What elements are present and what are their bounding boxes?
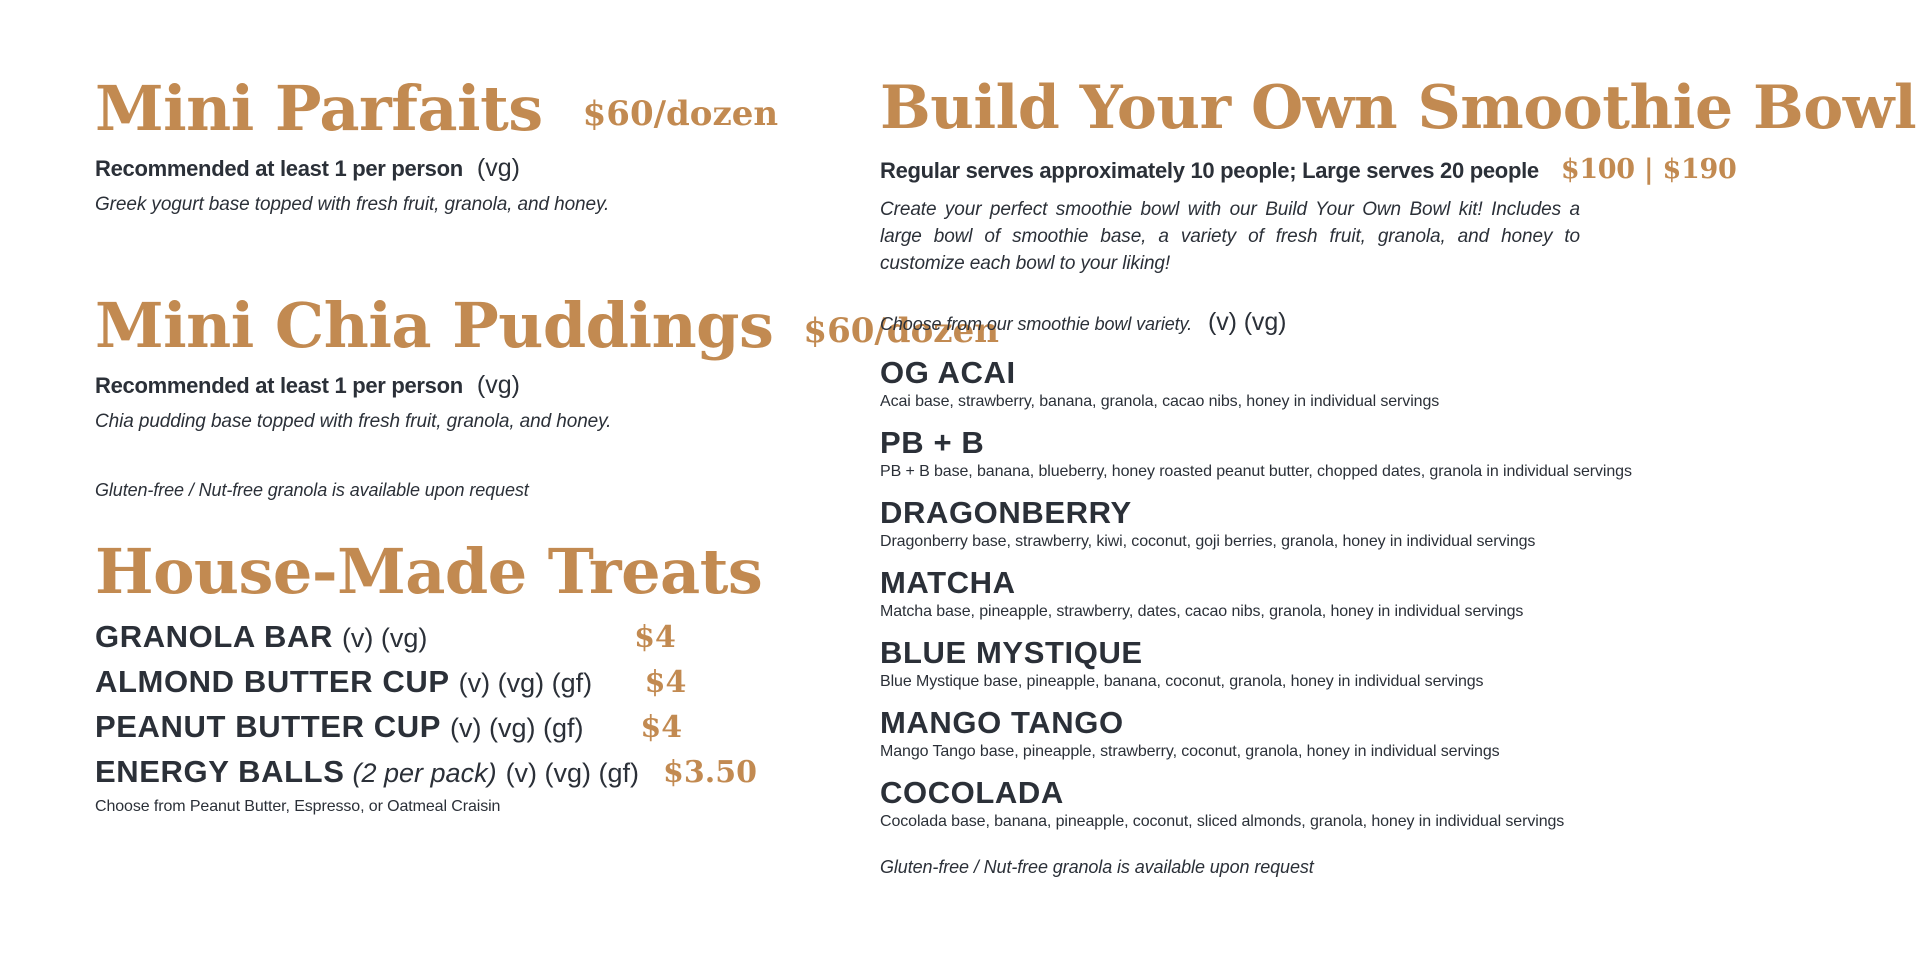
treat-diet-tags: (v) (vg) (gf)	[459, 668, 592, 699]
treat-diet-tags: (v) (vg)	[342, 623, 427, 654]
treat-name: ENERGY BALLS	[95, 754, 345, 790]
bowl-item: BLUE MYSTIQUE Blue Mystique base, pineap…	[880, 635, 1880, 691]
left-column: Mini Parfaits $60/dozen Recommended at l…	[0, 0, 880, 960]
bowl-name: MANGO TANGO	[880, 705, 1880, 741]
treat-price: $4	[595, 620, 715, 655]
spacer	[95, 436, 880, 480]
bowl-description: Blue Mystique base, pineapple, banana, c…	[880, 673, 1880, 691]
bowl-name: OG ACAI	[880, 355, 1880, 391]
bowl-item: PB + B PB + B base, banana, blueberry, h…	[880, 425, 1880, 481]
section-mini-chia-puddings: Mini Chia Puddings $60/dozen Recommended…	[95, 295, 880, 436]
bowl-description: PB + B base, banana, blueberry, honey ro…	[880, 463, 1880, 481]
choose-variety-diet-tags: (v) (vg)	[1208, 308, 1286, 337]
left-granola-note: Gluten-free / Nut-free granola is availa…	[95, 480, 880, 501]
choose-variety-row: Choose from our smoothie bowl variety. (…	[880, 308, 1880, 337]
section-house-made-treats: House-Made Treats GRANOLA BAR (v) (vg) $…	[95, 541, 880, 816]
mini-parfaits-diet-tags: (vg)	[477, 154, 520, 183]
spacer	[95, 501, 880, 527]
treat-diet-tags: (v) (vg) (gf)	[506, 758, 639, 789]
treats-list: GRANOLA BAR (v) (vg) $4 ALMOND BUTTER CU…	[95, 619, 715, 790]
mini-parfaits-title: Mini Parfaits	[95, 78, 543, 140]
mini-chia-subtitle-row: Recommended at least 1 per person (vg)	[95, 371, 880, 400]
treat-diet-tags: (v) (vg) (gf)	[450, 713, 583, 744]
treat-row: ALMOND BUTTER CUP (v) (vg) (gf) $4	[95, 664, 715, 700]
smoothie-bowl-title: Build Your Own Smoothie Bowl	[880, 78, 1880, 138]
smoothie-bowl-list: OG ACAI Acai base, strawberry, banana, g…	[880, 355, 1880, 831]
smoothie-serving-note: Regular serves approximately 10 people; …	[880, 158, 1539, 184]
treat-row: ENERGY BALLS (2 per pack) (v) (vg) (gf) …	[95, 754, 715, 790]
smoothie-description: Create your perfect smoothie bowl with o…	[880, 197, 1580, 278]
bowl-item: OG ACAI Acai base, strawberry, banana, g…	[880, 355, 1880, 411]
treat-row: PEANUT BUTTER CUP (v) (vg) (gf) $4	[95, 709, 715, 745]
mini-chia-title: Mini Chia Puddings	[95, 295, 773, 357]
section-mini-parfaits: Mini Parfaits $60/dozen Recommended at l…	[95, 78, 880, 219]
mini-chia-subtitle: Recommended at least 1 per person	[95, 373, 463, 399]
smoothie-serving-row: Regular serves approximately 10 people; …	[880, 154, 1880, 185]
bowl-item: COCOLADA Cocolada base, banana, pineappl…	[880, 775, 1880, 831]
treat-name: GRANOLA BAR	[95, 619, 333, 655]
treat-price: $4	[616, 665, 715, 700]
mini-parfaits-heading-row: Mini Parfaits $60/dozen	[95, 78, 880, 140]
house-made-treats-title: House-Made Treats	[95, 541, 880, 603]
bowl-name: BLUE MYSTIQUE	[880, 635, 1880, 671]
right-column: Build Your Own Smoothie Bowl Regular ser…	[880, 0, 1920, 960]
smoothie-price: $100 | $190	[1561, 154, 1737, 185]
treat-name: PEANUT BUTTER CUP	[95, 709, 441, 745]
bowl-name: MATCHA	[880, 565, 1880, 601]
spacer	[95, 219, 880, 295]
bowl-item: MATCHA Matcha base, pineapple, strawberr…	[880, 565, 1880, 621]
treat-price: $3.50	[663, 755, 757, 790]
treat-quantity: (2 per pack)	[353, 758, 497, 789]
bowl-description: Acai base, strawberry, banana, granola, …	[880, 393, 1880, 411]
bowl-description: Mango Tango base, pineapple, strawberry,…	[880, 743, 1880, 761]
mini-parfaits-subtitle: Recommended at least 1 per person	[95, 156, 463, 182]
bowl-name: COCOLADA	[880, 775, 1880, 811]
mini-chia-diet-tags: (vg)	[477, 371, 520, 400]
bowl-description: Dragonberry base, strawberry, kiwi, coco…	[880, 533, 1880, 551]
treats-footnote: Choose from Peanut Butter, Espresso, or …	[95, 798, 880, 816]
bowl-name: PB + B	[880, 425, 1880, 461]
treat-name: ALMOND BUTTER CUP	[95, 664, 450, 700]
menu-page: Mini Parfaits $60/dozen Recommended at l…	[0, 0, 1920, 960]
bowl-item: DRAGONBERRY Dragonberry base, strawberry…	[880, 495, 1880, 551]
mini-parfaits-price: $60/dozen	[583, 94, 779, 134]
mini-parfaits-description: Greek yogurt base topped with fresh frui…	[95, 192, 880, 219]
choose-variety-note: Choose from our smoothie bowl variety.	[880, 314, 1192, 335]
treat-price: $4	[608, 710, 715, 745]
treat-row: GRANOLA BAR (v) (vg) $4	[95, 619, 715, 655]
bowl-description: Cocolada base, banana, pineapple, coconu…	[880, 813, 1880, 831]
mini-chia-description: Chia pudding base topped with fresh frui…	[95, 409, 880, 436]
right-granola-note: Gluten-free / Nut-free granola is availa…	[880, 857, 1880, 878]
bowl-name: DRAGONBERRY	[880, 495, 1880, 531]
mini-chia-heading-row: Mini Chia Puddings $60/dozen	[95, 295, 880, 357]
bowl-description: Matcha base, pineapple, strawberry, date…	[880, 603, 1880, 621]
mini-parfaits-subtitle-row: Recommended at least 1 per person (vg)	[95, 154, 880, 183]
bowl-item: MANGO TANGO Mango Tango base, pineapple,…	[880, 705, 1880, 761]
